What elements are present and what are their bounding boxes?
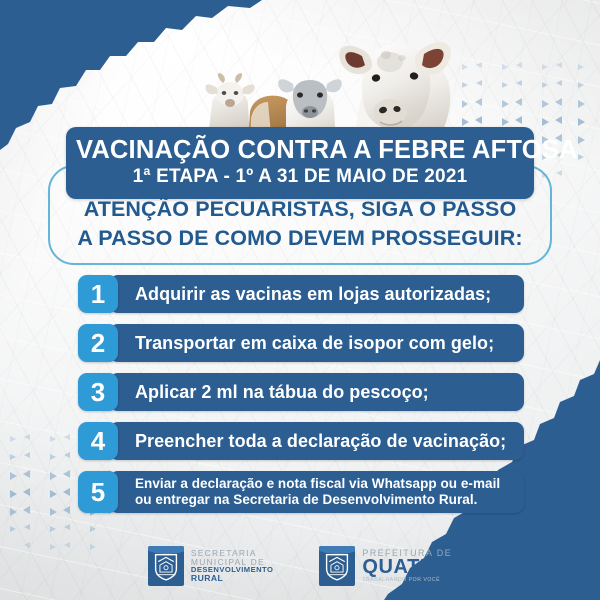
step-text-5-line-2: ou entregar na Secretaria de Desenvolvim… [135, 492, 500, 508]
step-number-badge-5: 5 [78, 471, 118, 513]
title-sub: 1ª ETAPA - 1º A 31 DE MAIO DE 2021 [76, 165, 524, 189]
step-item-3: 3 Aplicar 2 ml na tábua do pescoço; [78, 373, 524, 411]
logo-secretaria-wordmark: SECRETARIA MUNICIPAL DE DESENVOLVIMENTO … [191, 549, 273, 583]
step-text-2: Transportar em caixa de isopor com gelo; [135, 333, 494, 353]
step-item-2: 2 Transportar em caixa de isopor com gel… [78, 324, 524, 362]
subtitle-line-1: ATENÇÃO PECUARISTAS, SIGA O PASSO [48, 195, 552, 224]
step-text-1: Adquirir as vacinas em lojas autorizadas… [135, 284, 491, 304]
step-number-badge-2: 2 [78, 324, 118, 362]
step-number-badge-4: 4 [78, 422, 118, 460]
footer-logos: SECRETARIA MUNICIPAL DE DESENVOLVIMENTO … [0, 546, 600, 586]
title-banner: VACINAÇÃO CONTRA A FEBRE AFTOSA 1ª ETAPA… [66, 127, 534, 199]
step-bar-4: Preencher toda a declaração de vacinação… [109, 422, 524, 460]
step-item-4: 4 Preencher toda a declaração de vacinaç… [78, 422, 524, 460]
step-number-badge-1: 1 [78, 275, 118, 313]
logo-secretaria-municipal: SECRETARIA MUNICIPAL DE DESENVOLVIMENTO … [148, 546, 273, 586]
cattle-photo [190, 0, 460, 145]
step-text-5-line-1: Enviar a declaração e nota fiscal via Wh… [135, 476, 500, 492]
brasao-quatis-icon-2 [319, 546, 355, 586]
step-text-4: Preencher toda a declaração de vacinação… [135, 431, 506, 451]
step-bar-2: Transportar em caixa de isopor com gelo; [109, 324, 524, 362]
step-text-5: Enviar a declaração e nota fiscal via Wh… [135, 476, 500, 508]
step-bar-5: Enviar a declaração e nota fiscal via Wh… [109, 471, 524, 513]
steps-list: 1 Adquirir as vacinas em lojas autorizad… [78, 275, 524, 524]
step-number-badge-3: 3 [78, 373, 118, 411]
brasao-quatis-icon [148, 546, 184, 586]
coat-of-arms-shield-icon-2 [324, 551, 350, 581]
step-bar-3: Aplicar 2 ml na tábua do pescoço; [109, 373, 524, 411]
subtitle-text: ATENÇÃO PECUARISTAS, SIGA O PASSO A PASS… [48, 195, 552, 253]
step-text-3: Aplicar 2 ml na tábua do pescoço; [135, 382, 429, 402]
step-bar-1: Adquirir as vacinas em lojas autorizadas… [109, 275, 524, 313]
step-item-1: 1 Adquirir as vacinas em lojas autorizad… [78, 275, 524, 313]
subtitle-line-2: A PASSO DE COMO DEVEM PROSSEGUIR: [48, 224, 552, 253]
step-item-5: 5 Enviar a declaração e nota fiscal via … [78, 471, 524, 513]
logo-prefeitura-quatis: PREFEITURA DE QUATIS TRABALHANDO POR VOC… [319, 546, 452, 586]
logo-secretaria-word-4: RURAL [191, 574, 273, 583]
poster-root: VACINAÇÃO CONTRA A FEBRE AFTOSA 1ª ETAPA… [0, 0, 600, 600]
coat-of-arms-shield-icon [153, 551, 179, 581]
logo-prefeitura-tagline: TRABALHANDO POR VOCÊ [362, 578, 452, 583]
title-main: VACINAÇÃO CONTRA A FEBRE AFTOSA [76, 136, 524, 164]
logo-prefeitura-word-2: QUATIS [362, 558, 452, 578]
logo-prefeitura-wordmark: PREFEITURA DE QUATIS TRABALHANDO POR VOC… [362, 549, 452, 583]
